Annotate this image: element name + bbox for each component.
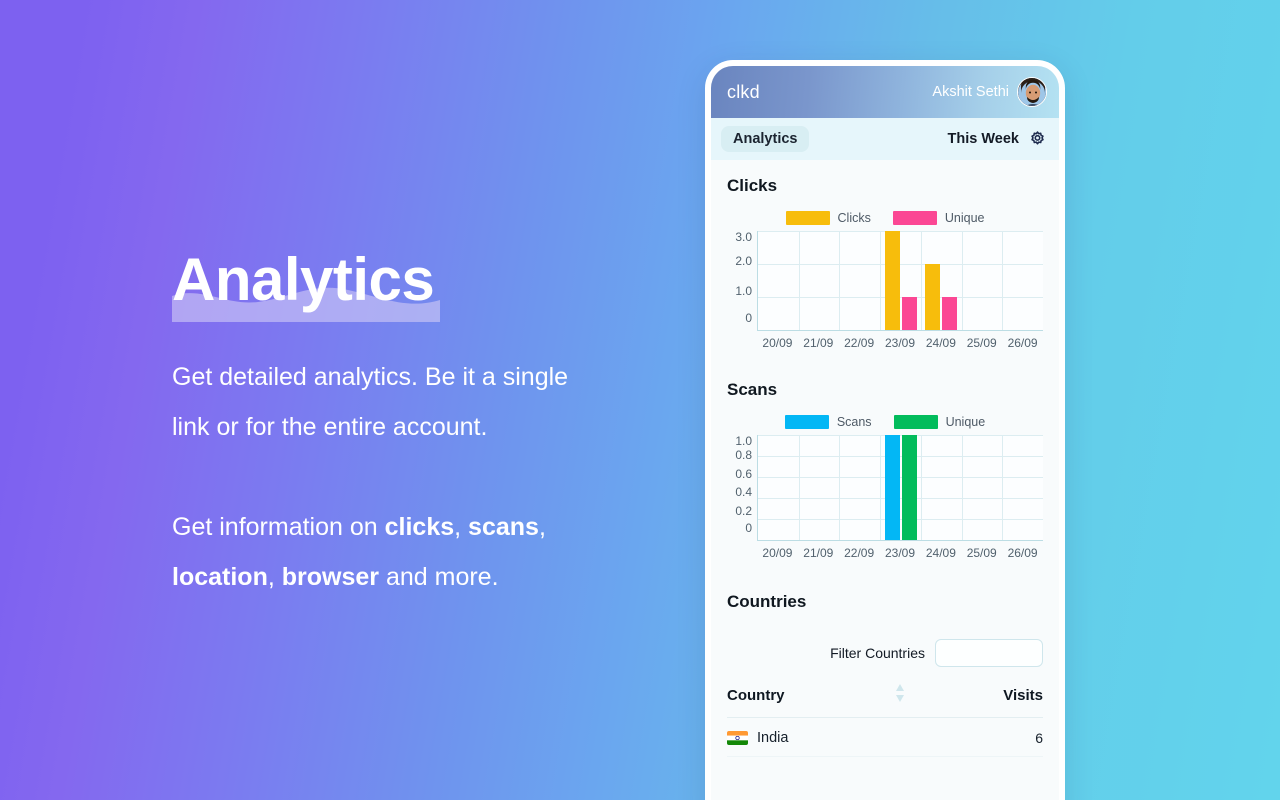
section-title-scans: Scans — [727, 380, 777, 401]
column-header-country[interactable]: Country — [727, 687, 785, 704]
hero-title-wrap: Analytics — [172, 250, 434, 314]
hero-panel: Analytics Get detailed analytics. Be it … — [172, 250, 672, 602]
section-title-scans-text: Scans — [727, 380, 777, 399]
legend-swatch-clicks-unique — [893, 211, 937, 225]
xtick: 21/09 — [798, 336, 839, 350]
xtick: 21/09 — [798, 546, 839, 560]
bar-group — [921, 435, 962, 540]
avatar[interactable] — [1017, 77, 1047, 107]
xtick: 24/09 — [920, 546, 961, 560]
date-range-label[interactable]: This Week — [948, 131, 1019, 147]
bar-group — [921, 231, 962, 330]
ytick: 0.6 — [735, 468, 752, 480]
ytick: 2.0 — [735, 255, 752, 267]
gear-icon[interactable] — [1028, 130, 1047, 149]
ytick: 0 — [745, 522, 752, 534]
xtick: 26/09 — [1002, 336, 1043, 350]
chart-scans-yaxis: 1.0 0.8 0.6 0.4 0.2 0 — [727, 435, 757, 541]
bar-group — [839, 435, 880, 540]
bar-group — [758, 435, 799, 540]
chart-scans-xaxis: 20/0921/0922/0923/0924/0925/0926/09 — [727, 546, 1043, 560]
hero-p2-bold-location: location — [172, 563, 268, 591]
legend-label-scans: Scans — [837, 415, 872, 429]
ytick: 3.0 — [735, 231, 752, 243]
ytick: 0 — [745, 312, 752, 324]
hero-p2-suffix: and more. — [379, 563, 499, 591]
user-photo-avatar-icon — [1018, 78, 1047, 107]
flag-india-icon — [727, 731, 748, 745]
hero-p2-prefix: Get information on — [172, 513, 385, 541]
ytick: 0.4 — [735, 486, 752, 498]
bar-group — [962, 435, 1003, 540]
bar-group — [758, 231, 799, 330]
xtick: 22/09 — [839, 546, 880, 560]
chart-scans-legend: Scans Unique — [727, 415, 1043, 429]
chart-scans-plot — [757, 435, 1043, 541]
chart-clicks-yaxis: 3.0 2.0 1.0 0 — [727, 231, 757, 331]
bar-group — [962, 231, 1003, 330]
xtick: 20/09 — [757, 546, 798, 560]
ytick: 1.0 — [735, 285, 752, 297]
bar-group — [1002, 231, 1043, 330]
filter-countries-label: Filter Countries — [830, 645, 925, 661]
app-header: clkd Akshit Sethi — [711, 66, 1059, 118]
legend-swatch-scans-unique — [894, 415, 938, 429]
user-menu[interactable]: Akshit Sethi — [932, 77, 1047, 107]
bar-unique[interactable] — [902, 297, 917, 330]
section-title-clicks: Clicks — [727, 176, 777, 197]
section-scans: Scans Scans Unique — [711, 354, 1059, 564]
xtick: 25/09 — [961, 546, 1002, 560]
bar-group — [799, 231, 840, 330]
hero-p2-sep1: , — [454, 513, 468, 541]
bar-clicks[interactable] — [925, 264, 940, 330]
tab-analytics[interactable]: Analytics — [721, 126, 809, 153]
legend-item-clicks[interactable]: Clicks — [786, 211, 871, 225]
chart-clicks-legend: Clicks Unique — [727, 211, 1043, 225]
filter-countries-input[interactable] — [935, 639, 1043, 667]
section-title-countries: Countries — [727, 592, 806, 613]
countries-table: Country Visits — [727, 683, 1043, 757]
app-content: Clicks Clicks Unique — [711, 160, 1059, 800]
page-title: Analytics — [172, 250, 434, 314]
chart-scans-plot-row: 1.0 0.8 0.6 0.4 0.2 0 — [727, 435, 1043, 541]
xtick: 20/09 — [757, 336, 798, 350]
xtick: 25/09 — [961, 336, 1002, 350]
bar-group — [880, 435, 921, 540]
countries-table-header: Country Visits — [727, 683, 1043, 718]
legend-item-scans-unique[interactable]: Unique — [894, 415, 986, 429]
hero-p2-sep2: , — [539, 513, 546, 541]
chart-bars — [758, 435, 1043, 540]
countries-filter-row: Filter Countries — [727, 639, 1043, 667]
toolbar-right-group: This Week — [948, 130, 1047, 149]
user-name-label: Akshit Sethi — [932, 84, 1009, 100]
app-screen: clkd Akshit Sethi — [711, 66, 1059, 800]
section-title-clicks-text: Clicks — [727, 176, 777, 195]
legend-swatch-clicks — [786, 211, 830, 225]
brand-logo[interactable]: clkd — [727, 82, 760, 103]
hero-p2-sep3: , — [268, 563, 282, 591]
hero-paragraph-1: Get detailed analytics. Be it a single l… — [172, 352, 592, 452]
hero-p2-bold-scans: scans — [468, 513, 539, 541]
chart-clicks-plot-row: 3.0 2.0 1.0 0 — [727, 231, 1043, 331]
device-mockup: clkd Akshit Sethi — [705, 60, 1065, 800]
chart-clicks: Clicks Unique 3.0 2.0 1.0 0 — [727, 211, 1043, 350]
legend-swatch-scans — [785, 415, 829, 429]
sort-updown-icon[interactable] — [895, 683, 905, 708]
bar-group — [799, 435, 840, 540]
chart-scans: Scans Unique 1.0 0.8 0.6 0.4 — [727, 415, 1043, 560]
hero-p2-bold-browser: browser — [282, 563, 379, 591]
column-header-visits[interactable]: Visits — [1003, 687, 1043, 704]
xtick: 26/09 — [1002, 546, 1043, 560]
hero-p2-bold-clicks: clicks — [385, 513, 455, 541]
section-title-countries-text: Countries — [727, 592, 806, 611]
legend-item-scans[interactable]: Scans — [785, 415, 872, 429]
bar-unique[interactable] — [942, 297, 957, 330]
chart-clicks-xaxis: 20/0921/0922/0923/0924/0925/0926/09 — [727, 336, 1043, 350]
bar-group — [880, 231, 921, 330]
app-toolbar: Analytics This Week — [711, 118, 1059, 160]
legend-label-scans-unique: Unique — [946, 415, 986, 429]
hero-paragraph-2: Get information on clicks, scans, locati… — [172, 502, 642, 602]
xtick: 24/09 — [920, 336, 961, 350]
country-visits: 6 — [1035, 730, 1043, 746]
chart-bars — [758, 231, 1043, 330]
bar-group — [1002, 435, 1043, 540]
section-countries: Countries Filter Countries Country — [711, 564, 1059, 757]
xtick: 22/09 — [839, 336, 880, 350]
chart-clicks-plot — [757, 231, 1043, 331]
xtick: 23/09 — [880, 546, 921, 560]
ytick: 0.8 — [735, 449, 752, 461]
bar-scans[interactable] — [885, 435, 900, 540]
ytick: 0.2 — [735, 505, 752, 517]
bar-unique[interactable] — [902, 435, 917, 540]
bar-group — [839, 231, 880, 330]
xtick: 23/09 — [880, 336, 921, 350]
section-clicks: Clicks Clicks Unique — [711, 160, 1059, 354]
ytick: 1.0 — [735, 435, 752, 447]
country-name: India — [757, 730, 788, 746]
legend-item-clicks-unique[interactable]: Unique — [893, 211, 985, 225]
bar-clicks[interactable] — [885, 231, 900, 330]
legend-label-clicks-unique: Unique — [945, 211, 985, 225]
table-row[interactable]: India 6 — [727, 718, 1043, 757]
legend-label-clicks: Clicks — [838, 211, 871, 225]
